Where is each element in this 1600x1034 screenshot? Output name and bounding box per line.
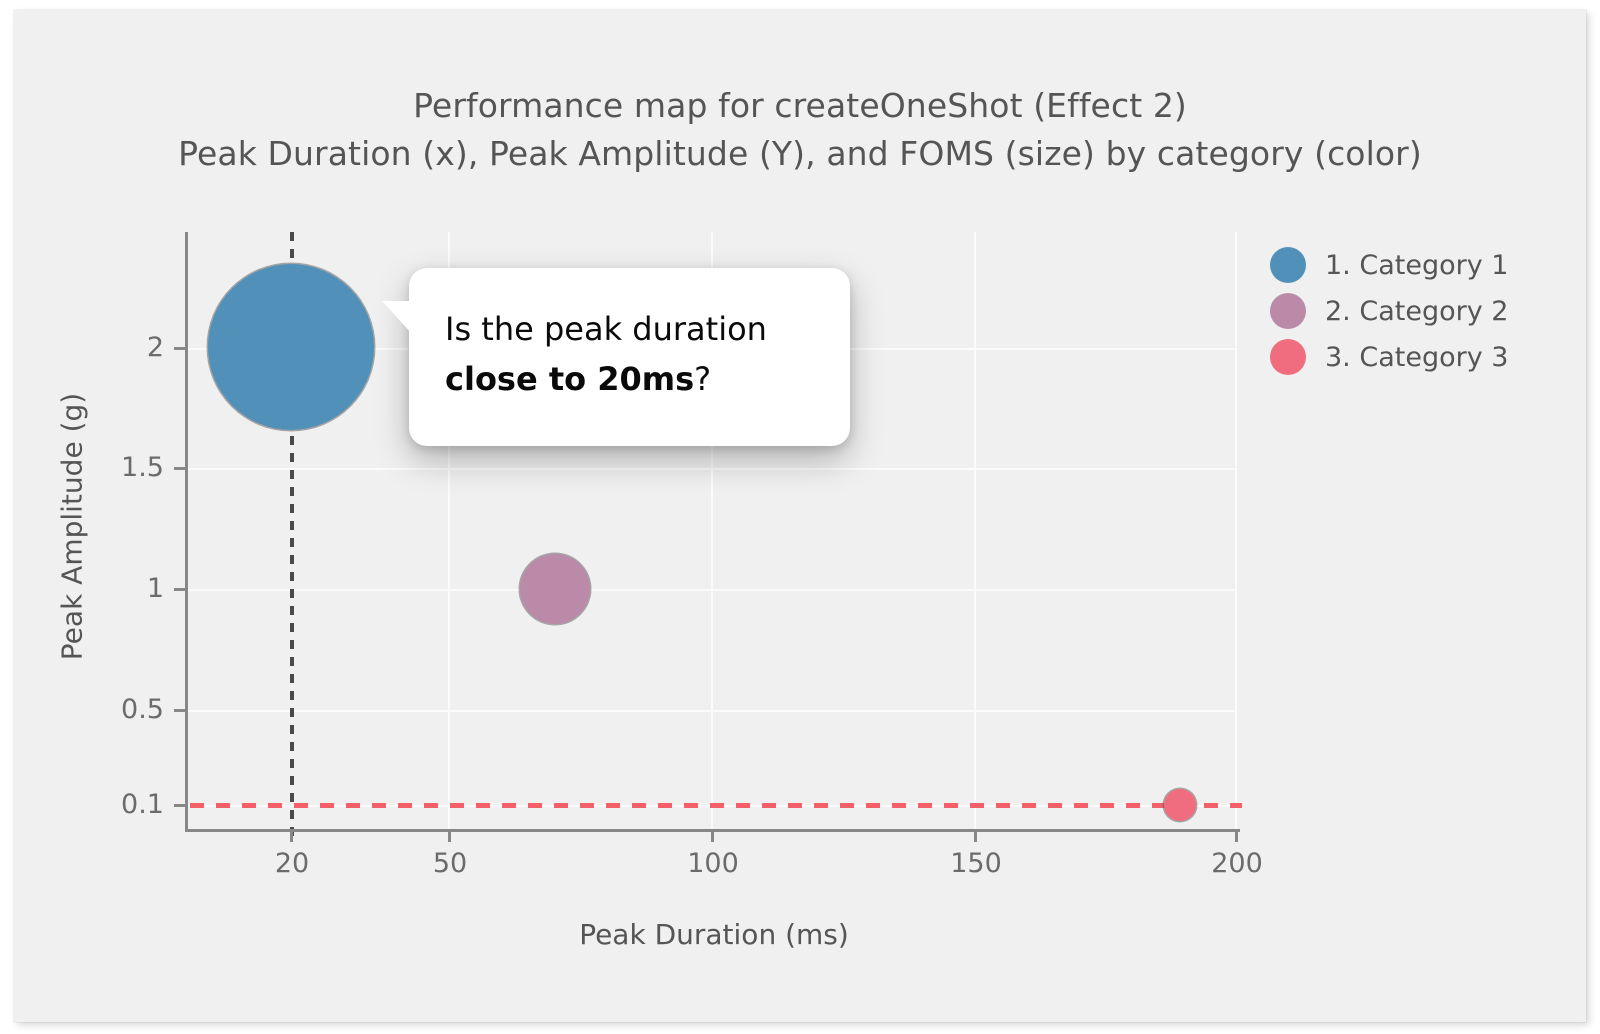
y-tick-label-0.1: 0.1 [34, 789, 164, 820]
y-tick-0.1 [174, 804, 186, 807]
gridline-x-200 [1235, 232, 1237, 830]
legend-swatch-icon-3 [1270, 339, 1306, 375]
question-callout: Is the peak duration close to 20ms? [409, 268, 850, 446]
legend-label-3: 3. Category 3 [1325, 342, 1508, 373]
figure-card: Performance map for createOneShot (Effec… [14, 10, 1586, 1022]
x-tick-20 [290, 829, 293, 842]
x-tick-label-200: 200 [1177, 848, 1297, 879]
chart-title-block: Performance map for createOneShot (Effec… [14, 82, 1586, 178]
legend-item-3[interactable]: 3. Category 3 [1270, 334, 1570, 380]
y-tick-1 [174, 588, 186, 591]
x-tick-label-50: 50 [390, 848, 510, 879]
legend: 1. Category 1 2. Category 2 3. Category … [1270, 242, 1570, 380]
legend-label-2: 2. Category 2 [1325, 296, 1508, 327]
y-axis-label: Peak Amplitude (g) [56, 277, 89, 777]
legend-swatch-icon-1 [1270, 247, 1306, 283]
gridline-y-1 [185, 589, 1237, 591]
x-tick-200 [1235, 829, 1238, 842]
x-tick-100 [711, 829, 714, 842]
callout-tail [382, 301, 412, 334]
callout-line-2-tail: ? [694, 360, 711, 398]
y-tick-label-1.5: 1.5 [34, 452, 164, 483]
bubble-category-3[interactable] [1164, 789, 1196, 821]
reference-line-horizontal-0.1 [190, 803, 1242, 808]
legend-item-1[interactable]: 1. Category 1 [1270, 242, 1570, 288]
bubble-category-2[interactable] [520, 554, 590, 624]
x-axis-label: Peak Duration (ms) [14, 918, 1414, 951]
callout-text: Is the peak duration close to 20ms? [445, 304, 825, 404]
y-tick-label-1: 1 [34, 573, 164, 604]
y-tick-2 [174, 347, 186, 350]
x-tick-label-100: 100 [653, 848, 773, 879]
y-tick-label-2: 2 [34, 332, 164, 363]
legend-swatch-icon-2 [1270, 293, 1306, 329]
y-tick-label-0.5: 0.5 [34, 694, 164, 725]
x-tick-label-150: 150 [916, 848, 1036, 879]
y-axis-spine [185, 232, 188, 832]
gridline-y-0.5 [185, 710, 1237, 712]
legend-item-2[interactable]: 2. Category 2 [1270, 288, 1570, 334]
legend-label-1: 1. Category 1 [1325, 250, 1508, 281]
chart-title-line-2: Peak Duration (x), Peak Amplitude (Y), a… [14, 130, 1586, 178]
gridline-y-1.5 [185, 468, 1237, 470]
y-tick-1.5 [174, 467, 186, 470]
x-tick-50 [448, 829, 451, 842]
x-tick-150 [974, 829, 977, 842]
gridline-x-150 [974, 232, 976, 830]
x-tick-label-20: 20 [232, 848, 352, 879]
bubble-category-1[interactable] [208, 264, 374, 430]
callout-line-2-bold: close to 20ms [445, 360, 694, 398]
chart-title-line-1: Performance map for createOneShot (Effec… [14, 82, 1586, 130]
y-tick-0.5 [174, 709, 186, 712]
callout-line-1: Is the peak duration [445, 310, 767, 348]
